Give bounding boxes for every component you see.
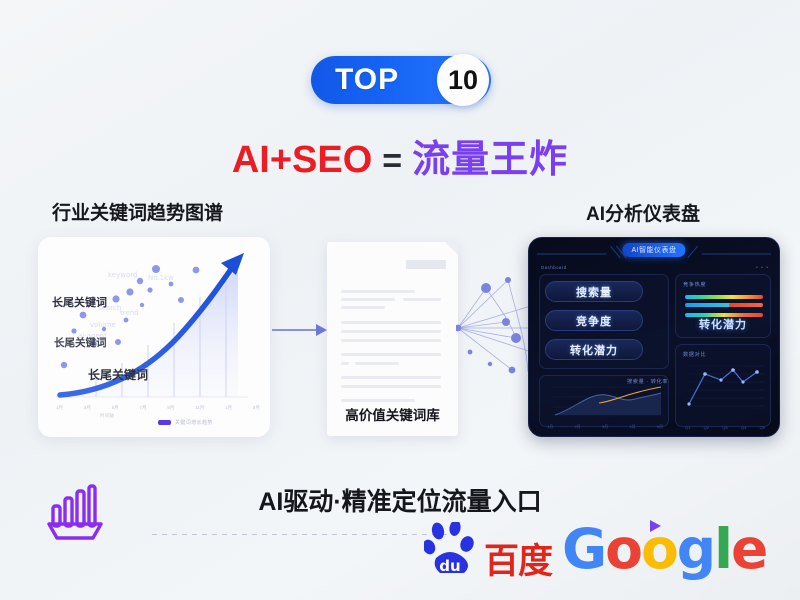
ai-dashboard-panel: AI智能仪表盘 Dashboard • • • 搜索量 竞争度 转化潜力 1月 … xyxy=(528,237,780,437)
heat-gradient-bar-3 xyxy=(729,303,763,307)
flow-arrow-icon xyxy=(272,320,328,340)
keyword-library-document: 高价值关键词库 xyxy=(327,242,458,436)
top-rank-badge: TOP 10 xyxy=(311,56,491,104)
kpi-label: 转化潜力 xyxy=(570,342,618,358)
google-logo[interactable]: Google xyxy=(562,518,766,580)
kpi-search-volume[interactable]: 搜索量 xyxy=(545,281,643,302)
area-chart-legend: 搜索量 · 转化率 xyxy=(627,378,668,385)
top-badge-number-circle: 10 xyxy=(437,54,489,106)
google-letter: G xyxy=(562,517,605,581)
kpi-competition[interactable]: 竞争度 xyxy=(545,310,643,331)
doc-text-line xyxy=(341,306,385,309)
axis-tick: 1月 xyxy=(225,405,232,411)
page-title: AI+SEO=流量王炸 xyxy=(0,128,800,183)
dashboard-menu-icon[interactable]: • • • xyxy=(756,265,769,271)
doc-text-line xyxy=(341,385,441,388)
top-badge-label: TOP xyxy=(335,63,399,97)
doc-text-line xyxy=(341,298,395,301)
axis-tick: Q1 xyxy=(685,425,690,430)
axis-tick: 1月 xyxy=(56,405,63,411)
trend-axis-label: 时间轴 xyxy=(100,413,114,419)
area-chart-axis: 1月 2月 3月 4月 5月 xyxy=(547,424,663,430)
headline-equals: = xyxy=(382,142,402,180)
page-fold-icon xyxy=(445,242,458,255)
baidu-wordmark: 百度 xyxy=(484,533,552,584)
keyword-trend-card: keyword No.1kw search trend volume ai-ag… xyxy=(38,237,270,437)
line-chart-axis: Q1 Q2 Q3 Q4 Q5 xyxy=(685,425,765,430)
dashboard-area-chart xyxy=(543,379,665,423)
trend-axis-ticks: 1月 3月 5月 7月 9月 11月 1月 3月 xyxy=(56,405,260,411)
axis-tick: Q3 xyxy=(722,425,727,430)
axis-tick: 4月 xyxy=(629,424,635,430)
axis-tick: 7月 xyxy=(139,405,146,411)
doc-bullet-line xyxy=(341,362,349,365)
bottom-slogan: AI驱动·精准定位流量入口 xyxy=(0,482,800,518)
axis-tick: 2月 xyxy=(574,424,580,430)
google-letter: g xyxy=(677,517,714,581)
section-title-right: AI分析仪表盘 xyxy=(586,199,700,226)
doc-text-line xyxy=(341,376,441,379)
axis-tick: 5月 xyxy=(112,405,119,411)
keyword-label-2: 长尾关键词 xyxy=(54,335,107,350)
doc-text-line xyxy=(341,330,441,333)
google-letter: o xyxy=(641,517,677,581)
dashboard-title-pill: AI智能仪表盘 xyxy=(622,243,685,257)
axis-tick: 9月 xyxy=(167,405,174,411)
headline-right: 流量王炸 xyxy=(412,139,568,181)
google-letter: l xyxy=(714,517,731,581)
axis-tick: 3月 xyxy=(253,405,260,411)
trend-legend: 关键词增长趋势 xyxy=(158,419,213,426)
doc-text-line xyxy=(341,321,441,324)
doc-header-block xyxy=(406,260,446,269)
doc-text-line xyxy=(341,353,441,356)
dashboard-brand: Dashboard xyxy=(541,265,567,270)
svg-text:volume: volume xyxy=(90,321,116,329)
kpi-label: 竞争度 xyxy=(576,313,612,329)
doc-text-line xyxy=(341,399,415,402)
legend-label: 关键词增长趋势 xyxy=(175,419,213,426)
line-chart-title: 数据对比 xyxy=(683,351,706,358)
doc-text-line xyxy=(355,362,399,365)
svg-text:du: du xyxy=(439,557,460,575)
google-letter: o xyxy=(605,517,641,581)
dashboard-line-chart xyxy=(679,360,767,416)
svg-text:keyword: keyword xyxy=(108,271,137,279)
axis-tick: Q2 xyxy=(704,425,709,430)
axis-tick: 3月 xyxy=(84,405,91,411)
slide-canvas: TOP 10 AI+SEO=流量王炸 行业关键词趋势图谱 AI分析仪表盘 xyxy=(0,0,800,600)
svg-text:No.1kw: No.1kw xyxy=(148,274,174,282)
section-title-left: 行业关键词趋势图谱 xyxy=(52,198,223,225)
keyword-label-1: 长尾关键词 xyxy=(52,294,107,310)
axis-tick: Q4 xyxy=(741,425,746,430)
svg-text:trend: trend xyxy=(120,309,139,317)
conversion-overlay-label: 转化潜力 xyxy=(675,316,771,332)
doc-text-line xyxy=(341,290,415,293)
dashboard-header: AI智能仪表盘 xyxy=(529,238,779,262)
axis-tick: 11月 xyxy=(195,405,204,411)
axis-tick: Q5 xyxy=(760,425,765,430)
doc-text-line xyxy=(403,298,441,301)
google-letter: e xyxy=(731,517,766,581)
heat-gradient-bar-1 xyxy=(685,295,763,299)
connector-dashed-line xyxy=(152,534,452,535)
kpi-conversion-potential[interactable]: 转化潜力 xyxy=(545,339,643,360)
heat-panel-title: 竞争热度 xyxy=(683,281,706,288)
baidu-logo[interactable]: du 百度 xyxy=(424,520,554,582)
document-caption: 高价值关键词库 xyxy=(327,404,458,424)
top-badge-number: 10 xyxy=(448,65,478,96)
kpi-label: 搜索量 xyxy=(576,284,612,300)
axis-tick: 1月 xyxy=(547,424,553,430)
doc-text-line xyxy=(341,339,441,342)
headline-left: AI+SEO xyxy=(232,139,372,181)
axis-tick: 3月 xyxy=(602,424,608,430)
legend-swatch-icon xyxy=(158,420,171,425)
baidu-paw-icon: du xyxy=(424,522,484,578)
keyword-label-3: 长尾关键词 xyxy=(88,366,148,383)
axis-tick: 5月 xyxy=(657,424,663,430)
